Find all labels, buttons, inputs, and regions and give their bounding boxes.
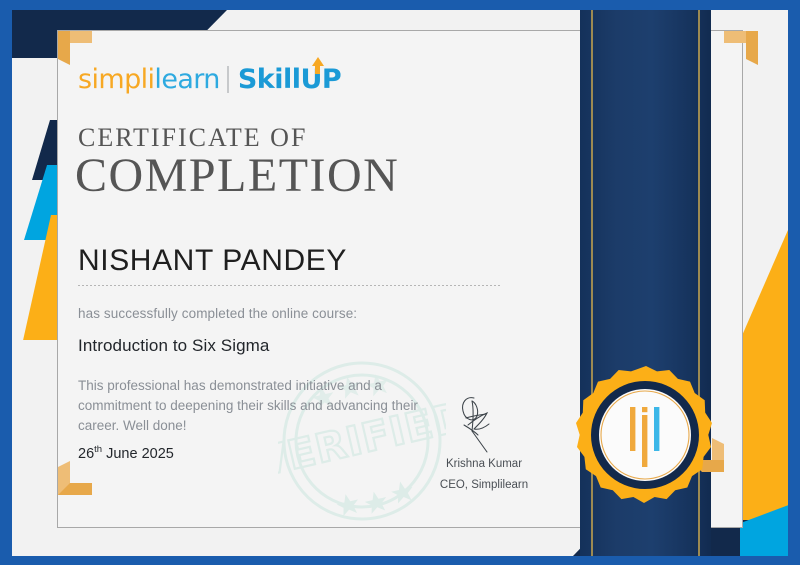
up-arrow-stem-icon	[315, 64, 320, 74]
corner-bracket-top-right	[724, 31, 758, 65]
page-title-line2: COMPLETION	[75, 148, 399, 203]
course-name: Introduction to Six Sigma	[78, 336, 269, 356]
simplilearn-skillup-logo: simplilearn SkillUP	[78, 62, 341, 96]
signature-block: Krishna Kumar CEO, Simplilearn	[424, 392, 544, 491]
logo-skillup-label: SkillUP	[238, 64, 341, 95]
right-accent-ribbon	[740, 230, 788, 556]
logo-wordmark: simplilearn	[78, 66, 220, 93]
recipient-name: NISHANT PANDEY	[78, 244, 347, 278]
corner-arm-vertical	[746, 31, 758, 65]
issue-date-month-year: June 2025	[106, 446, 174, 462]
congratulation-paragraph: This professional has demonstrated initi…	[78, 376, 438, 436]
issue-date-ordinal: th	[94, 444, 102, 455]
handwritten-signature-icon	[446, 392, 522, 454]
issue-date: 26th June 2025	[78, 444, 174, 462]
course-label: has successfully completed the online co…	[78, 306, 357, 321]
recipient-name-underline	[78, 285, 502, 286]
logo-skillup-text: SkillUP	[238, 66, 341, 93]
verification-seal-badge	[575, 365, 717, 507]
logo-divider	[227, 66, 229, 93]
issue-date-day: 26	[78, 446, 94, 462]
corner-arm-vertical	[58, 31, 70, 65]
certificate-canvas: VERIFIED simplilearn SkillUP CERTIFICATE…	[0, 0, 800, 565]
logo-simpli-text: simpl	[78, 64, 148, 95]
right-ribbon-orange-segment	[740, 230, 788, 520]
left-accent-ribbon	[12, 20, 60, 340]
corner-bracket-bottom-left	[58, 461, 92, 495]
signatory-name: Krishna Kumar	[424, 458, 544, 470]
signatory-title: CEO, Simplilearn	[424, 479, 544, 491]
corner-bracket-top-left	[58, 31, 92, 65]
logo-learn-text: learn	[154, 64, 219, 95]
